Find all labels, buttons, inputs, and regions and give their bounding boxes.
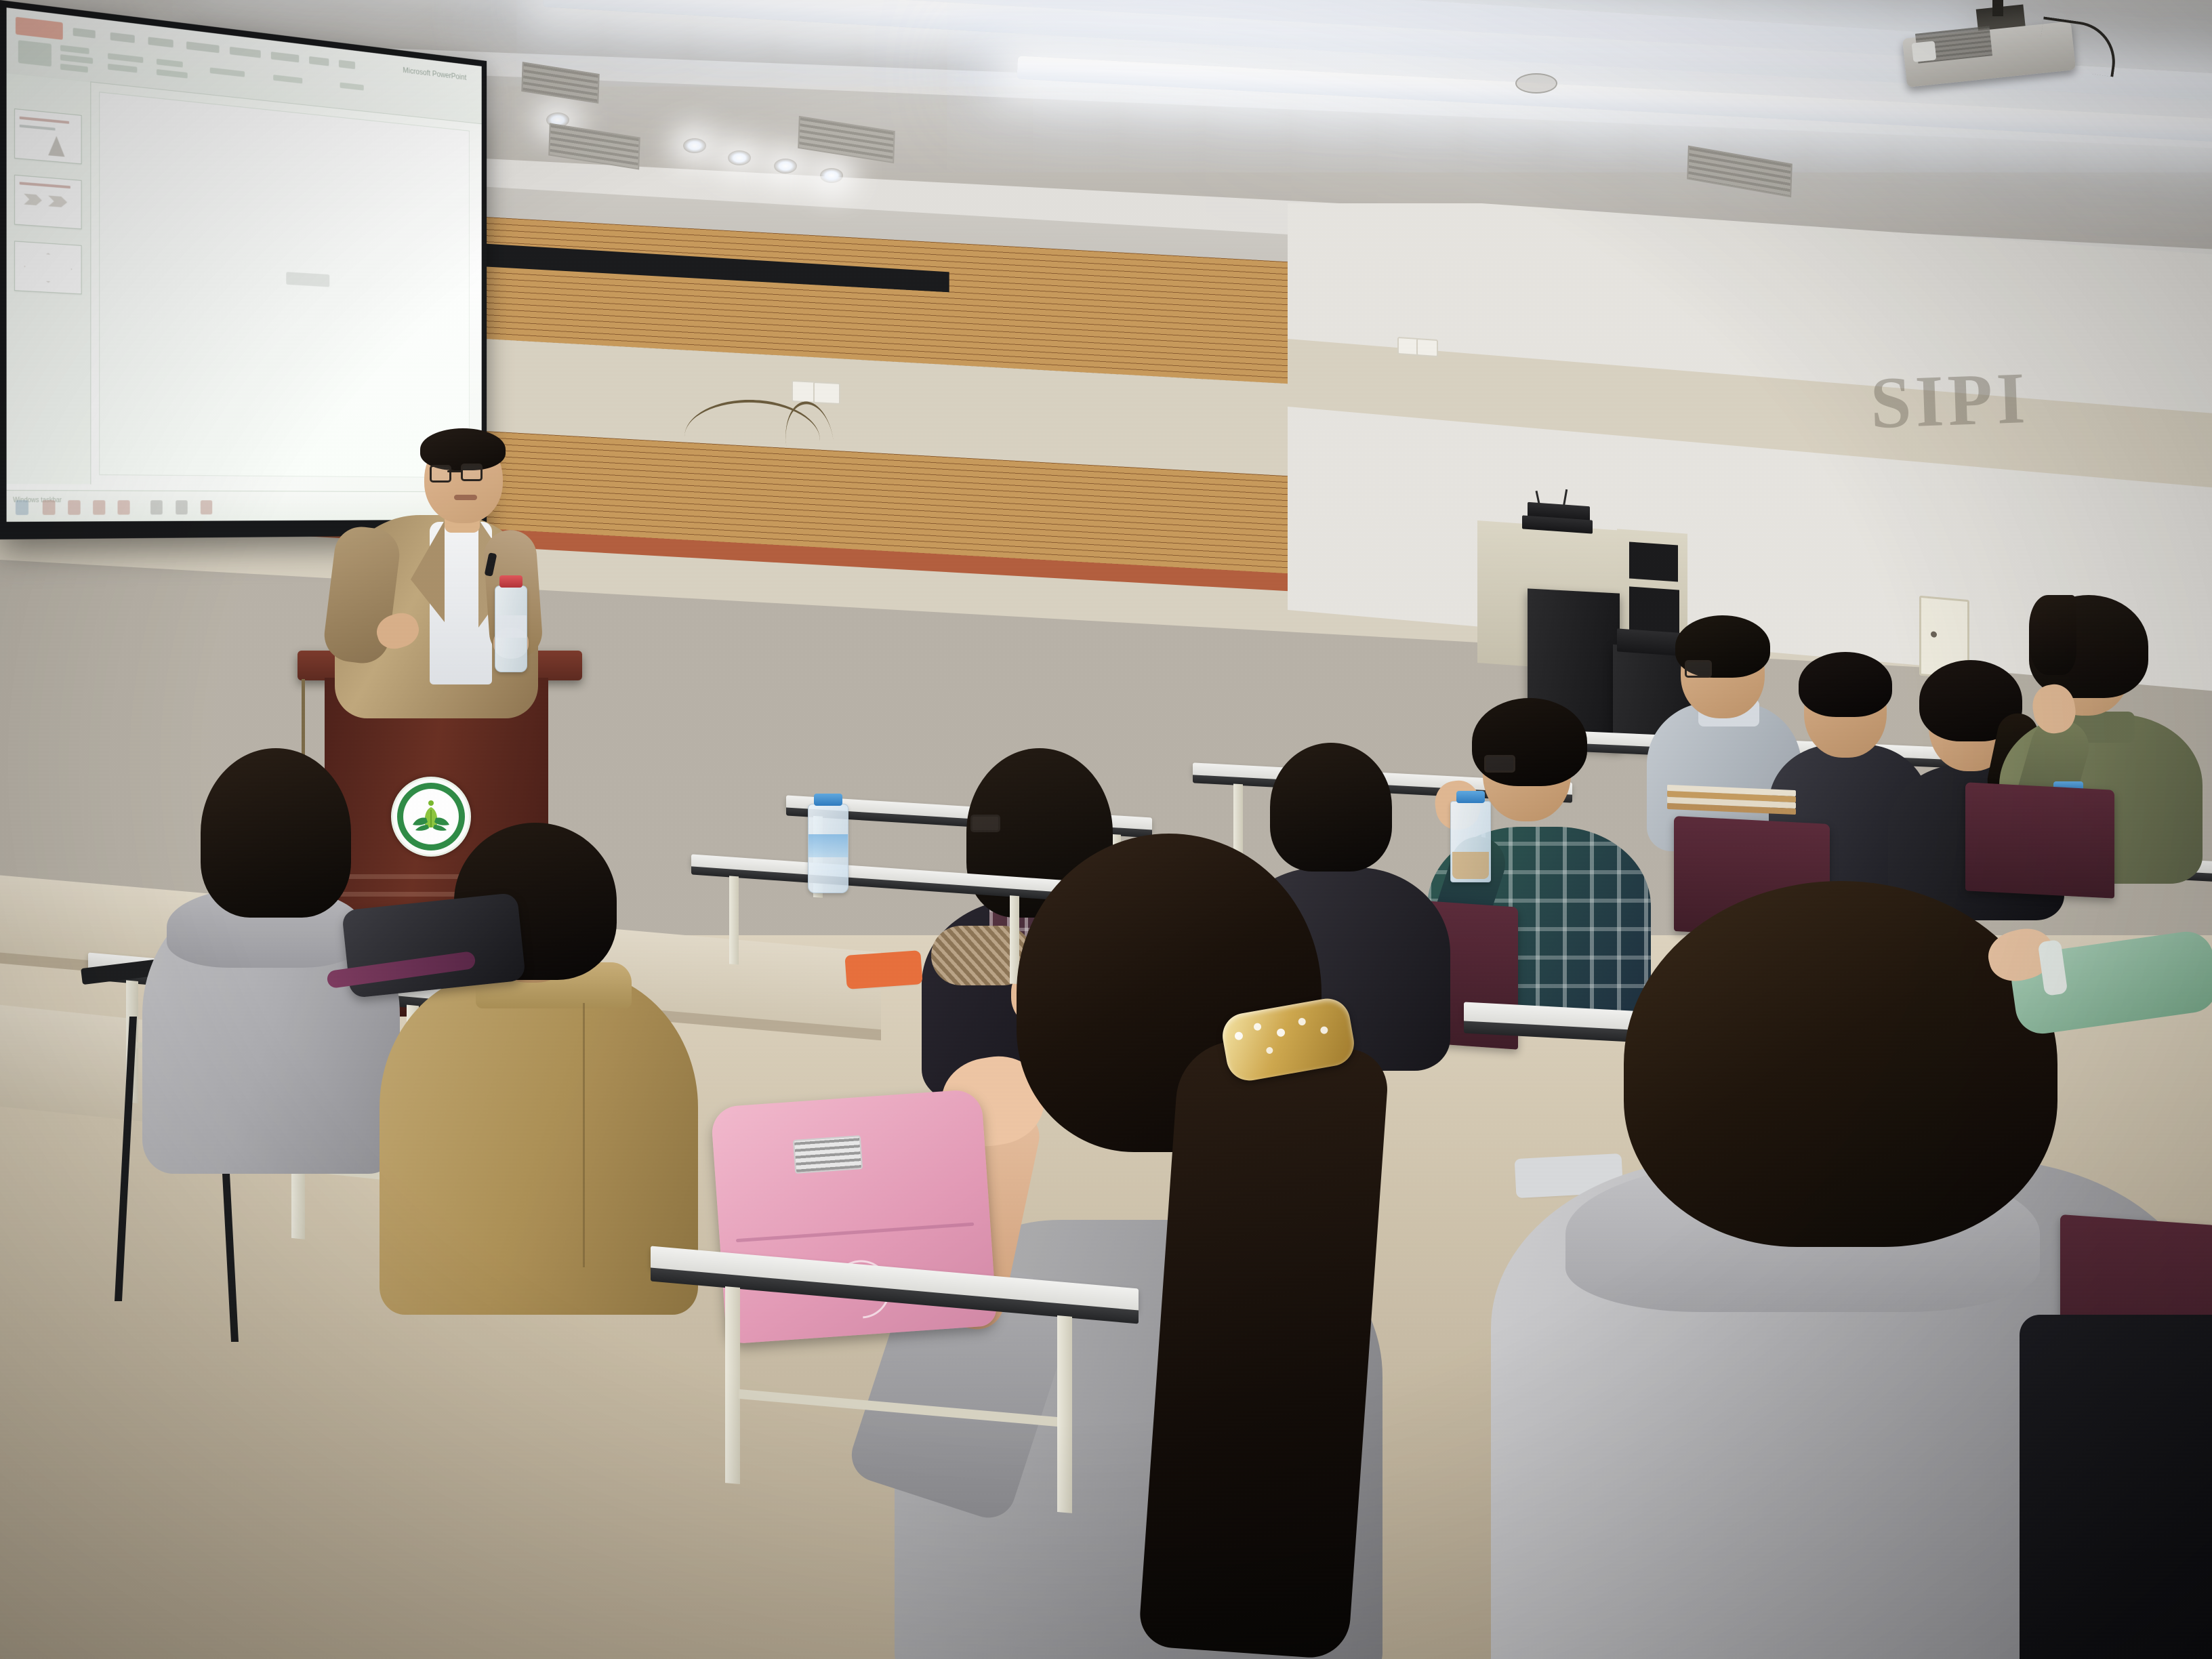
tab-slideshow[interactable]: [271, 52, 299, 62]
bottle-label: [495, 615, 527, 638]
bottle-cap: [814, 794, 842, 806]
tab-review[interactable]: [309, 56, 329, 66]
power-outlet[interactable]: [1416, 338, 1438, 357]
tab-view[interactable]: [339, 60, 355, 69]
student-1-hair: [201, 748, 351, 918]
student-10-hair-front: [2029, 595, 2076, 675]
dark-trousers: [2020, 1315, 2212, 1659]
ribbon-control[interactable]: [60, 45, 89, 54]
ribbon-control[interactable]: [157, 69, 188, 79]
ribbon-control[interactable]: [18, 40, 52, 66]
window-title: Microsoft PowerPoint: [403, 65, 466, 82]
recessed-downlight: [683, 138, 706, 153]
drink-cup[interactable]: [1450, 801, 1491, 882]
presenter-glasses-right-lens: [461, 464, 483, 481]
slide-thumbnail[interactable]: [14, 175, 81, 230]
slide-thumbnail[interactable]: [14, 108, 81, 164]
taskbar-app-icon[interactable]: [68, 500, 81, 515]
file-tab[interactable]: [16, 17, 63, 40]
student-8-hair: [1799, 652, 1892, 717]
backpack-seam: [736, 1223, 974, 1243]
recessed-downlight: [774, 159, 797, 173]
desk-leg: [729, 876, 739, 964]
ribbon-control[interactable]: [108, 53, 143, 63]
desk-leg: [1057, 1315, 1072, 1513]
student-6-glasses: [1484, 755, 1515, 773]
student-7-glasses: [1685, 660, 1712, 678]
ribbon-control[interactable]: [60, 54, 93, 64]
lecture-hall-photo: SIPI: [0, 0, 2212, 1659]
taskbar-app-icon[interactable]: [118, 500, 130, 514]
taskbar-start-icon[interactable]: [16, 500, 28, 515]
cup-tea: [1452, 852, 1489, 879]
ribbon-control[interactable]: [108, 64, 137, 73]
desk-leg: [725, 1286, 740, 1484]
projector-pole: [1992, 0, 2003, 16]
recessed-downlight: [728, 150, 751, 165]
student-desk: [651, 1246, 1139, 1513]
bottle-cap: [499, 575, 522, 588]
ribbon-control[interactable]: [210, 67, 245, 77]
student-2: [380, 800, 698, 1315]
taskbar-app-icon[interactable]: [176, 500, 188, 514]
tab-animations[interactable]: [230, 47, 261, 58]
student-12: [1986, 901, 2212, 1118]
desk-brace: [739, 1389, 1057, 1427]
ribbon-control[interactable]: [157, 59, 183, 68]
presenter-glasses-bridge: [447, 470, 462, 472]
ceiling-projector: [1884, 7, 2108, 88]
taskbar-app-icon[interactable]: [43, 500, 56, 515]
slide-thumbnail[interactable]: [14, 241, 81, 294]
ribbon-control[interactable]: [60, 64, 88, 73]
student-5-long-hair: [1138, 1037, 1390, 1659]
power-outlet[interactable]: [813, 382, 840, 405]
ribbon-control[interactable]: [340, 82, 364, 90]
presenter-glasses-left-lens: [430, 465, 451, 483]
student-2-seam: [583, 1003, 585, 1267]
student-6-hair: [1472, 698, 1587, 786]
tab-insert[interactable]: [110, 33, 135, 43]
slide-thumbnail-pane[interactable]: [7, 73, 91, 485]
tab-design[interactable]: [148, 37, 173, 47]
presenter-water-bottle[interactable]: [495, 586, 527, 672]
recessed-downlight: [820, 168, 843, 183]
ceiling-smoke-detector: [1515, 73, 1557, 94]
water-bottle[interactable]: [808, 804, 848, 893]
taskbar-app-icon[interactable]: [201, 500, 212, 514]
taskbar-app-icon[interactable]: [150, 500, 163, 514]
av-cabinet-shelf-slot: [1629, 541, 1678, 581]
wall-graffiti: SIPI: [1869, 356, 2030, 446]
cup-lid: [1456, 791, 1485, 803]
backpack-logo-tag: [793, 1135, 863, 1174]
taskbar-app-icon[interactable]: [93, 500, 105, 514]
tab-home[interactable]: [73, 28, 96, 39]
ribbon-control[interactable]: [273, 75, 302, 83]
tab-transitions[interactable]: [186, 41, 220, 53]
presenter-mouth: [454, 495, 477, 500]
projector-lens: [1912, 41, 1937, 62]
presenter: [359, 420, 562, 705]
bottle-label: [808, 834, 848, 857]
